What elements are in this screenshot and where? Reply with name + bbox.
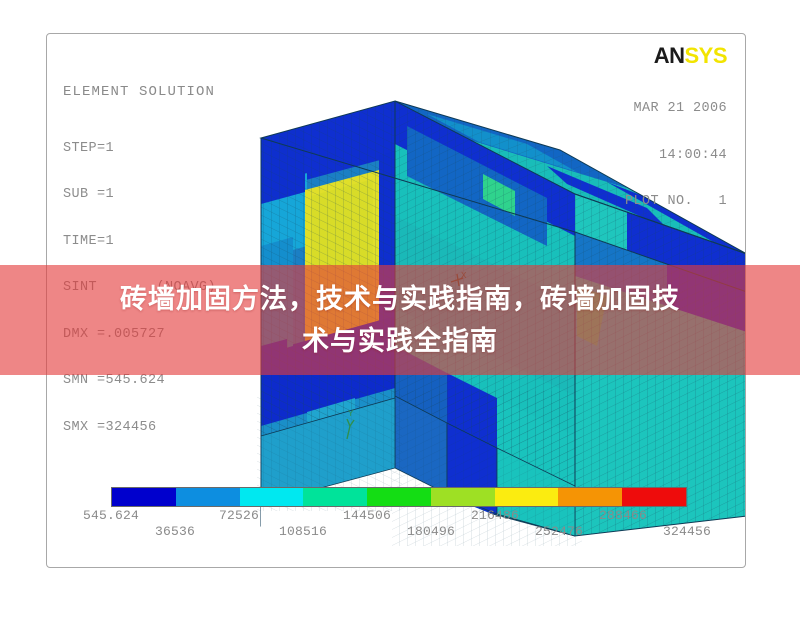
plot-time: 14:00:44 — [625, 148, 727, 164]
legend-band-1 — [176, 488, 240, 506]
legend-tick-2: 72526 — [219, 508, 259, 523]
legend-tick-9: 324456 — [663, 524, 711, 539]
caption-overlay-band: 砖墙加固方法，技术与实践指南，砖墙加固技 术与实践全指南 — [0, 265, 800, 375]
ansys-logo: ANSYS — [625, 44, 727, 68]
legend-tick-1: 36536 — [155, 524, 195, 539]
logo-and-date-block: ANSYS MAR 21 2006 14:00:44 PLOT NO. 1 — [625, 44, 727, 241]
legend-tick-labels: 545.624365367252610851614450618049621648… — [111, 508, 687, 542]
info-smn: SMN =545.624 — [63, 373, 216, 389]
plot-number: PLOT NO. 1 — [625, 194, 727, 210]
legend-band-4 — [367, 488, 431, 506]
legend-tick-6: 216486 — [471, 508, 519, 523]
caption-text: 砖墙加固方法，技术与实践指南，砖墙加固技 术与实践全指南 — [50, 278, 750, 362]
legend-tick-5: 180496 — [407, 524, 455, 539]
legend-color-bar — [111, 487, 687, 507]
plot-date: MAR 21 2006 — [625, 101, 727, 117]
legend-tick-0: 545.624 — [83, 508, 139, 523]
legend-band-7 — [558, 488, 622, 506]
info-time: TIME=1 — [63, 234, 216, 250]
legend-band-5 — [431, 488, 495, 506]
info-smx: SMX =324456 — [63, 420, 216, 436]
contour-legend: 545.624365367252610851614450618049621648… — [111, 487, 687, 542]
caption-line-1: 砖墙加固方法，技术与实践指南，砖墙加固技 — [120, 284, 680, 314]
legend-tick-3: 108516 — [279, 524, 327, 539]
ansys-logo-sys: SYS — [684, 43, 727, 68]
date-block: MAR 21 2006 14:00:44 PLOT NO. 1 — [625, 70, 727, 241]
legend-band-3 — [303, 488, 367, 506]
legend-band-8 — [622, 488, 686, 506]
caption-line-2: 术与实践全指南 — [302, 326, 498, 356]
legend-band-6 — [495, 488, 559, 506]
legend-band-0 — [112, 488, 176, 506]
legend-tick-8: 288466 — [599, 508, 647, 523]
info-sub: SUB =1 — [63, 187, 216, 203]
plot-title: ELEMENT SOLUTION — [63, 85, 216, 101]
plot-info-block: ELEMENT SOLUTION STEP=1 SUB =1 TIME=1 SI… — [63, 54, 216, 466]
legend-tick-4: 144506 — [343, 508, 391, 523]
legend-tick-7: 252476 — [535, 524, 583, 539]
info-step: STEP=1 — [63, 141, 216, 157]
svg-text:Y: Y — [348, 409, 354, 419]
ansys-logo-an: AN — [654, 43, 685, 68]
legend-band-2 — [240, 488, 304, 506]
axis-marker-y: Y — [347, 409, 354, 439]
